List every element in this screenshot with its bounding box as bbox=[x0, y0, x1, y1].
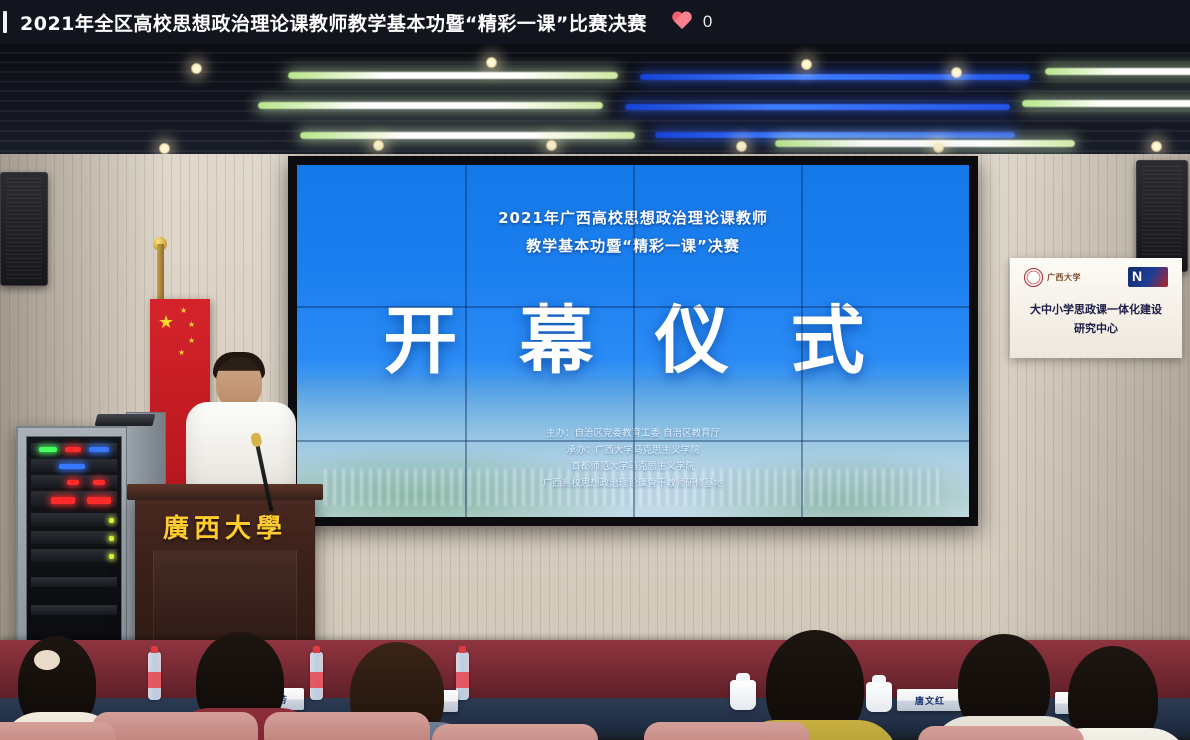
titlebar-accent-bar bbox=[3, 11, 7, 33]
seat-headrest bbox=[264, 712, 430, 740]
led-video-wall-screen: 2021年广西高校思想政治理论课教师 教学基本功暨“精彩一课”决赛 开 幕 仪 … bbox=[297, 165, 969, 517]
video-frame[interactable]: 2021年广西高校思想政治理论课教师 教学基本功暨“精彩一课”决赛 开 幕 仪 … bbox=[0, 44, 1190, 740]
seat-headrest bbox=[432, 724, 598, 740]
university-seal-icon bbox=[1024, 268, 1043, 287]
rack-unit bbox=[31, 605, 117, 615]
led-main-title: 开 幕 仪 式 bbox=[297, 281, 969, 388]
led-credit-line: 承办：广西大学马克思主义学院 bbox=[297, 443, 969, 460]
like-button[interactable]: 0 bbox=[671, 12, 712, 32]
ceiling-light bbox=[1022, 100, 1190, 107]
page-title: 2021年全区高校思想政治理论课教师教学基本功暨“精彩一课”比赛决赛 bbox=[20, 9, 647, 36]
av-equipment-rack bbox=[16, 426, 132, 676]
downlight bbox=[735, 140, 748, 153]
led-header-text: 2021年广西高校思想政治理论课教师 教学基本功暨“精彩一课”决赛 bbox=[297, 204, 969, 261]
nameplate-text: 唐文红 bbox=[915, 694, 945, 707]
banner-text: 大中小学思政课一体化建设 研究中心 bbox=[1010, 301, 1182, 338]
banner-n-mark-icon bbox=[1128, 267, 1168, 287]
like-count: 0 bbox=[703, 12, 712, 32]
downlight bbox=[485, 56, 498, 69]
seat-partial-left bbox=[0, 734, 78, 740]
tea-cup bbox=[730, 680, 756, 710]
lectern-university-name: 廣西大學 bbox=[135, 508, 315, 545]
led-credits: 主办：自治区党委教育工委 自治区教育厅 承办：广西大学马克思主义学院 首都师范大… bbox=[297, 426, 969, 493]
seat-7: 7 bbox=[100, 724, 250, 740]
rack-unit bbox=[31, 531, 117, 544]
wall-speaker-left bbox=[0, 172, 48, 286]
rack-unit bbox=[31, 577, 117, 587]
ceiling-light bbox=[300, 132, 635, 139]
seat-headrest bbox=[644, 722, 810, 740]
rack-glass-door bbox=[26, 436, 122, 666]
led-credit-line: 首都师范大学马克思主义学院 bbox=[297, 459, 969, 476]
lectern-laptop bbox=[95, 414, 156, 426]
heart-icon[interactable] bbox=[671, 12, 693, 32]
ceiling-light bbox=[775, 140, 1075, 147]
banner-line2: 研究中心 bbox=[1010, 320, 1182, 339]
seat-partial-middle bbox=[440, 736, 570, 740]
ceiling bbox=[0, 44, 1190, 164]
wall-speaker-right bbox=[1136, 160, 1188, 272]
led-header-line1: 2021年广西高校思想政治理论课教师 bbox=[297, 204, 969, 233]
downlight bbox=[545, 139, 558, 152]
rack-unit bbox=[31, 491, 117, 507]
downlight bbox=[372, 139, 385, 152]
seat-headrest bbox=[92, 712, 258, 740]
downlight bbox=[800, 58, 813, 71]
banner-university-logo: 广西大学 bbox=[1024, 268, 1081, 287]
water-bottle bbox=[148, 652, 161, 700]
audience-head bbox=[1068, 646, 1158, 740]
ceiling-light-blue bbox=[655, 132, 1015, 138]
downlight bbox=[932, 141, 945, 154]
seat-6: 6 bbox=[272, 724, 422, 740]
rack-unit bbox=[31, 513, 117, 526]
led-credit-line: 主办：自治区党委教育工委 自治区教育厅 bbox=[297, 426, 969, 443]
downlight bbox=[1150, 140, 1163, 153]
hair-accessory bbox=[34, 650, 60, 670]
ceiling-light-blue bbox=[640, 74, 1030, 80]
banner-university-name: 广西大学 bbox=[1047, 272, 1081, 283]
nameplate: 唐文红 bbox=[897, 689, 963, 711]
video-player-screen: 2021年全区高校思想政治理论课教师教学基本功暨“精彩一课”比赛决赛 0 bbox=[0, 0, 1190, 740]
seat-partial-right bbox=[652, 734, 792, 740]
ceiling-light bbox=[288, 72, 618, 79]
led-video-wall: 2021年广西高校思想政治理论课教师 教学基本功暨“精彩一课”决赛 开 幕 仪 … bbox=[288, 156, 978, 526]
water-bottle bbox=[310, 652, 323, 700]
seat-headrest bbox=[0, 722, 116, 740]
rack-unit bbox=[31, 459, 117, 472]
ceiling-light-blue bbox=[625, 104, 1010, 110]
banner-logos: 广西大学 bbox=[1010, 258, 1182, 287]
led-credit-line: 广西高校思想政治理论课骨干教师研修基地 bbox=[297, 476, 969, 493]
downlight bbox=[190, 62, 203, 75]
led-header-line2: 教学基本功暨“精彩一课”决赛 bbox=[297, 232, 969, 261]
research-center-banner: 广西大学 大中小学思政课一体化建设 研究中心 bbox=[1010, 258, 1182, 358]
ceiling-light bbox=[1045, 68, 1190, 75]
tea-cup bbox=[866, 682, 892, 712]
rack-unit bbox=[31, 549, 117, 562]
titlebar: 2021年全区高校思想政治理论课教师教学基本功暨“精彩一课”比赛决赛 0 bbox=[0, 0, 1190, 44]
downlight bbox=[950, 66, 963, 79]
ceiling-light bbox=[258, 102, 603, 109]
seat-headrest bbox=[918, 726, 1084, 740]
rack-unit bbox=[31, 475, 117, 488]
banner-line1: 大中小学思政课一体化建设 bbox=[1010, 301, 1182, 320]
lectern-top bbox=[127, 484, 323, 500]
rack-unit bbox=[31, 443, 117, 456]
